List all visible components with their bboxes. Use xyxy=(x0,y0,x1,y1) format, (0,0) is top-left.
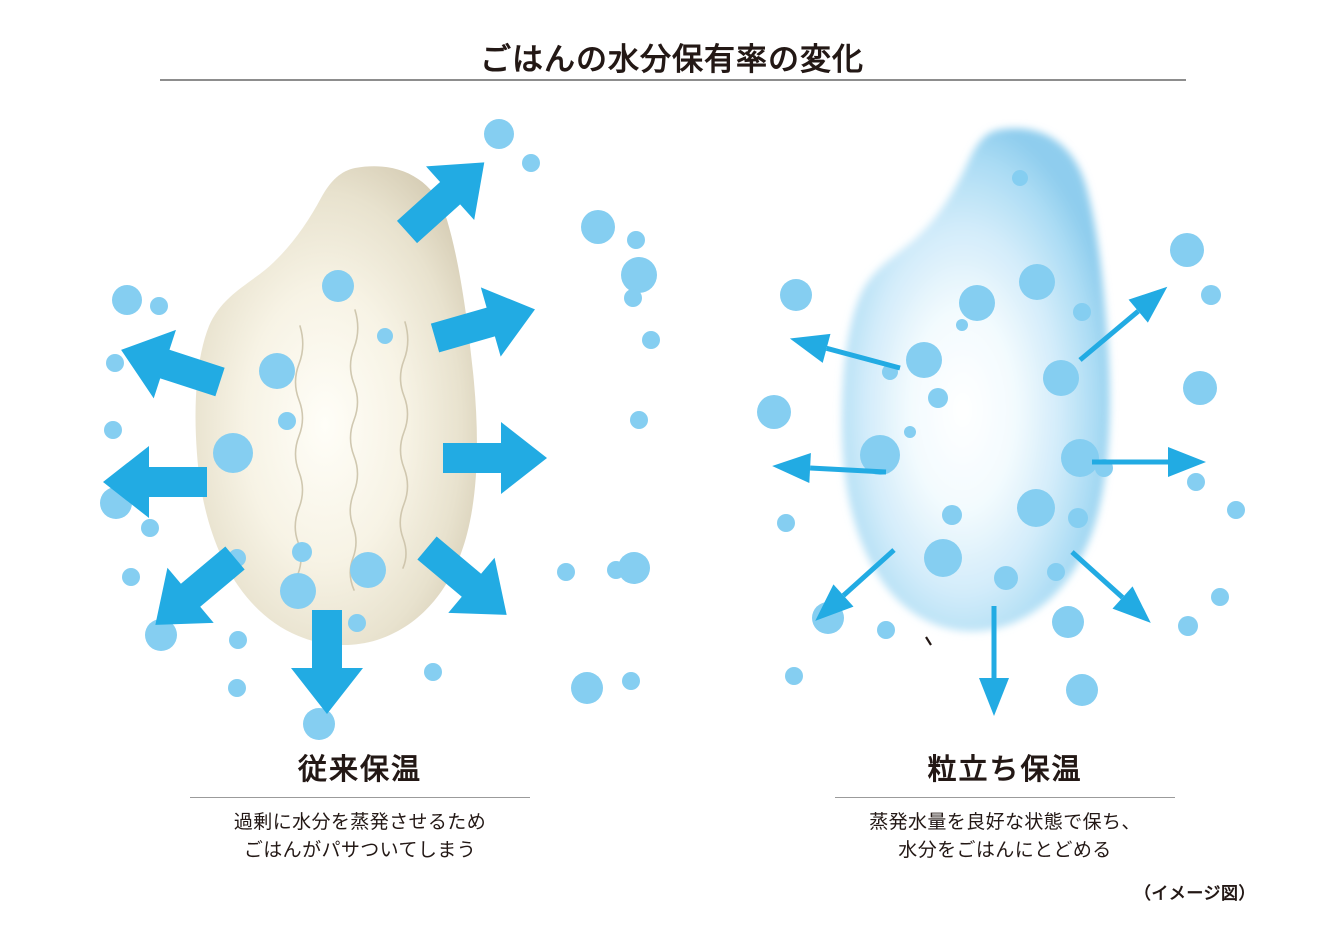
caption-divider-grain-standing xyxy=(835,797,1175,798)
caption-line: 蒸発水量を良好な状態で保ち、 xyxy=(700,809,1310,837)
caption-heading-grain-standing: 粒立ち保温 xyxy=(700,752,1310,788)
caption-divider-conventional xyxy=(190,797,530,798)
caption-line: ごはんがパサついてしまう xyxy=(55,837,665,865)
caption-grain-standing: 粒立ち保温 蒸発水量を良好な状態で保ち、 水分をごはんにとどめる xyxy=(700,752,1310,865)
image-disclaimer-note: （イメージ図） xyxy=(1134,879,1256,904)
stray-tick-mark xyxy=(926,637,931,645)
panel-grain-standing xyxy=(700,110,1310,790)
illustration-moist-grain xyxy=(700,110,1310,750)
page-title: ごはんの水分保有率の変化 xyxy=(0,41,1344,78)
title-divider xyxy=(160,79,1186,81)
illustration-conventional-grain xyxy=(55,110,665,750)
caption-conventional: 従来保温 過剰に水分を蒸発させるため ごはんがパサついてしまう xyxy=(55,752,665,865)
caption-body-conventional: 過剰に水分を蒸発させるため ごはんがパサついてしまう xyxy=(55,809,665,865)
caption-heading-conventional: 従来保温 xyxy=(55,752,665,788)
caption-line: 過剰に水分を蒸発させるため xyxy=(55,809,665,837)
caption-line: 水分をごはんにとどめる xyxy=(700,837,1310,865)
panel-conventional xyxy=(55,110,665,790)
caption-body-grain-standing: 蒸発水量を良好な状態で保ち、 水分をごはんにとどめる xyxy=(700,809,1310,865)
diagram-page: ごはんの水分保有率の変化 xyxy=(0,0,1344,932)
